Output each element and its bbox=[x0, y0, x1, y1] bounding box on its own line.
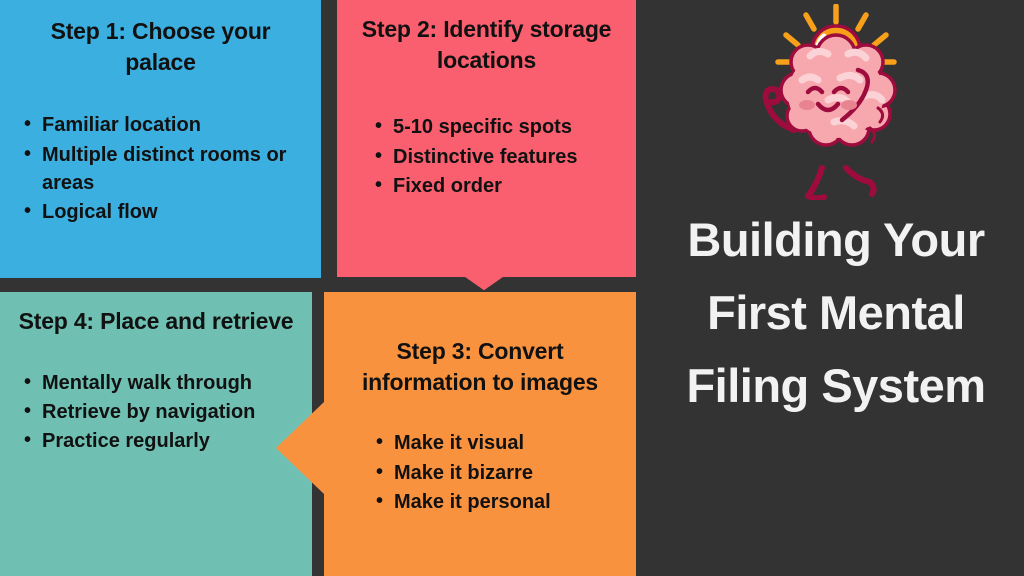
brain-left-cheek-icon bbox=[799, 100, 815, 110]
list-item: Retrieve by navigation bbox=[24, 398, 255, 426]
step-2-title: Step 2: Identify storage locations bbox=[347, 14, 626, 75]
brain-right-leg-icon bbox=[846, 168, 870, 182]
list-item: Make it personal bbox=[376, 488, 551, 516]
step-2-bullet-list: 5-10 specific spots Distinctive features… bbox=[347, 113, 578, 201]
brain-right-cheek-icon bbox=[841, 100, 857, 110]
list-item: Mentally walk through bbox=[24, 369, 255, 397]
step-1-bullet-list: Familiar location Multiple distinct room… bbox=[14, 111, 307, 228]
list-item: Multiple distinct rooms or areas bbox=[24, 141, 307, 198]
step-2-panel: Step 2: Identify storage locations 5-10 … bbox=[337, 0, 636, 277]
step-3-title: Step 3: Convert information to images bbox=[332, 336, 628, 397]
brain-fold-line-icon bbox=[870, 128, 875, 142]
step-4-bullet-list: Mentally walk through Retrieve by naviga… bbox=[14, 369, 255, 457]
list-item: Distinctive features bbox=[375, 143, 578, 171]
step-4-panel: Step 4: Place and retrieve Mentally walk… bbox=[0, 292, 312, 576]
step-3-panel: Step 3: Convert information to images Ma… bbox=[324, 292, 636, 576]
step-1-panel: Step 1: Choose your palace Familiar loca… bbox=[0, 0, 321, 278]
list-item: Practice regularly bbox=[24, 427, 255, 455]
happy-brain-with-lightbulb-icon bbox=[736, 4, 936, 200]
hero-panel: Building Your First Mental Filing System bbox=[648, 0, 1024, 576]
list-item: Make it visual bbox=[376, 429, 551, 457]
page-title: Building Your First Mental Filing System bbox=[671, 204, 1001, 423]
list-item: 5-10 specific spots bbox=[375, 113, 578, 141]
list-item: Familiar location bbox=[24, 111, 307, 139]
brain-right-foot-icon bbox=[870, 182, 874, 194]
brain-left-foot-icon bbox=[808, 196, 824, 198]
list-item: Logical flow bbox=[24, 198, 307, 226]
infographic-canvas: Step 1: Choose your palace Familiar loca… bbox=[0, 0, 1024, 576]
list-item: Fixed order bbox=[375, 172, 578, 200]
step-3-bullet-list: Make it visual Make it bizarre Make it p… bbox=[332, 429, 551, 517]
brain-left-leg-icon bbox=[808, 168, 822, 196]
step-1-title: Step 1: Choose your palace bbox=[14, 16, 307, 77]
step-4-title: Step 4: Place and retrieve bbox=[14, 306, 298, 337]
list-item: Make it bizarre bbox=[376, 459, 551, 487]
